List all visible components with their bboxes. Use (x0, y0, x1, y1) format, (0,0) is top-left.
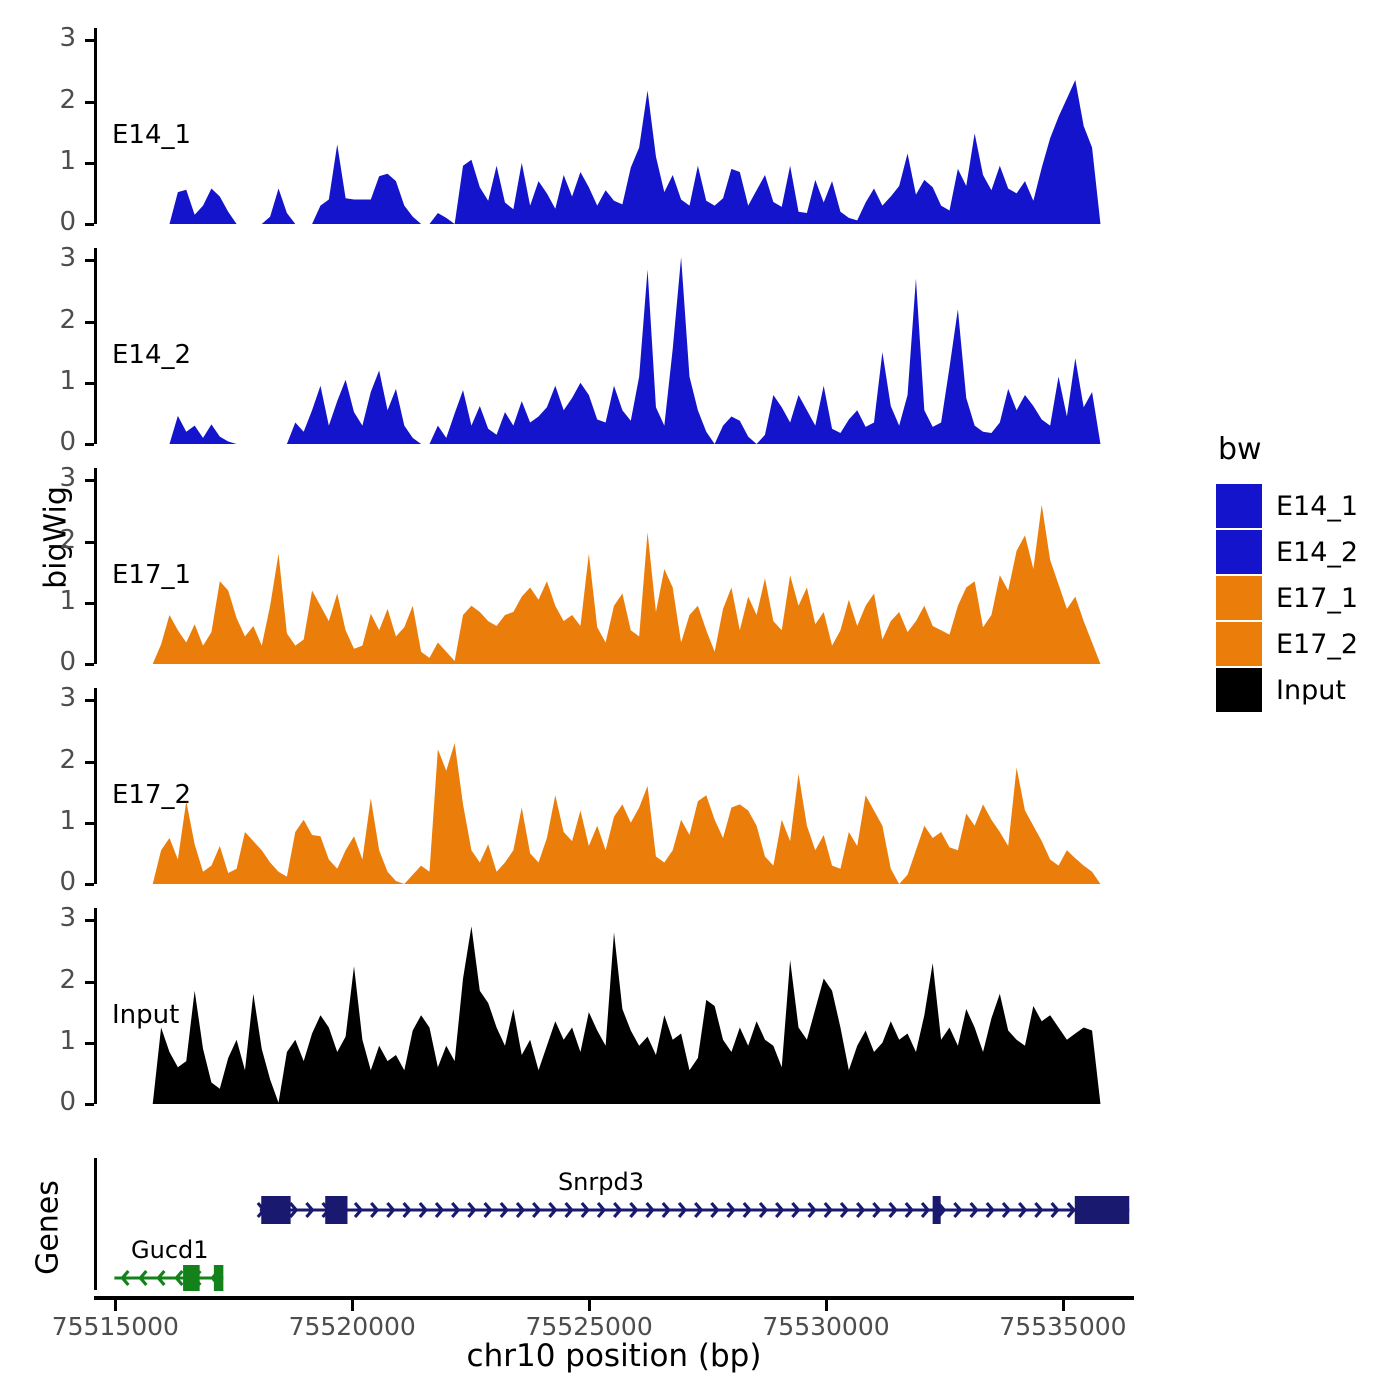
y-tick-label: 1 (24, 146, 76, 176)
x-axis-title: chr10 position (bp) (94, 1338, 1134, 1374)
x-tick (351, 1300, 354, 1311)
y-tick (85, 382, 94, 385)
legend-title: bw (1218, 432, 1358, 467)
legend-item-input[interactable]: Input (1216, 667, 1358, 713)
waveform-e14_1 (94, 28, 1134, 226)
y-tick (85, 699, 94, 702)
y-tick-label: 3 (24, 903, 76, 933)
y-tick-label: 0 (24, 1087, 76, 1117)
legend-item-e14_1[interactable]: E14_1 (1216, 483, 1358, 529)
legend-label: E17_2 (1276, 629, 1358, 660)
legend-label: E17_1 (1276, 583, 1358, 614)
legend-label: Input (1276, 675, 1346, 706)
legend-items: E14_1E14_2E17_1E17_2Input (1216, 483, 1358, 713)
y-tick-label: 3 (24, 463, 76, 493)
y-tick (85, 162, 94, 165)
y-tick-label: 1 (24, 1026, 76, 1056)
y-tick-label: 1 (24, 366, 76, 396)
x-tick-label: 75535000 (963, 1312, 1163, 1341)
legend-label: E14_1 (1276, 491, 1358, 522)
legend-swatch-e14_2 (1216, 530, 1262, 574)
y-tick-label: 3 (24, 243, 76, 273)
waveform-e17_2 (94, 688, 1134, 886)
legend-item-e14_2[interactable]: E14_2 (1216, 529, 1358, 575)
y-tick (85, 541, 94, 544)
legend-swatch-e17_1 (1216, 576, 1262, 620)
legend: bw E14_1E14_2E17_1E17_2Input (1216, 432, 1358, 713)
gene-label-snrpd3: Snrpd3 (558, 1168, 644, 1196)
legend-item-e17_1[interactable]: E17_1 (1216, 575, 1358, 621)
y-tick-label: 2 (24, 745, 76, 775)
gene-exon-snrpd3 (933, 1196, 941, 1224)
waveform-path (94, 926, 1134, 1104)
y-tick-label: 2 (24, 305, 76, 335)
y-tick (85, 822, 94, 825)
y-tick (85, 479, 94, 482)
legend-swatch-e14_1 (1216, 484, 1262, 528)
y-tick (85, 919, 94, 922)
gene-exon-gucd1 (214, 1265, 223, 1291)
y-tick-label: 2 (24, 965, 76, 995)
y-tick-label: 0 (24, 867, 76, 897)
y-tick (85, 883, 94, 886)
x-tick (588, 1300, 591, 1311)
y-tick (85, 259, 94, 262)
y-tick (85, 761, 94, 764)
y-tick (85, 663, 94, 666)
y-tick (85, 1042, 94, 1045)
waveform-path (94, 80, 1134, 224)
y-tick (85, 443, 94, 446)
y-tick (85, 101, 94, 104)
x-tick (1062, 1300, 1065, 1311)
genes-svg: Snrpd3Gucd1 (94, 1158, 1134, 1298)
gene-exon-gucd1 (183, 1265, 200, 1291)
y-tick (85, 223, 94, 226)
legend-label: E14_2 (1276, 537, 1358, 568)
y-tick (85, 321, 94, 324)
x-tick-label: 75520000 (252, 1312, 452, 1341)
legend-item-e17_2[interactable]: E17_2 (1216, 621, 1358, 667)
x-tick-label: 75525000 (489, 1312, 689, 1341)
legend-swatch-input (1216, 668, 1262, 712)
genes-track: Snrpd3Gucd1 (94, 1158, 1134, 1298)
y-tick-label: 1 (24, 806, 76, 836)
y-tick-label: 0 (24, 427, 76, 457)
x-tick (825, 1300, 828, 1311)
y-tick-label: 2 (24, 85, 76, 115)
y-tick (85, 39, 94, 42)
y-tick (85, 981, 94, 984)
y-tick-label: 2 (24, 525, 76, 555)
x-tick-label: 75530000 (726, 1312, 926, 1341)
waveform-input (94, 908, 1134, 1106)
y-tick-label: 3 (24, 23, 76, 53)
gene-label-gucd1: Gucd1 (131, 1236, 209, 1264)
y-tick-label: 0 (24, 647, 76, 677)
y-tick (85, 602, 94, 605)
plot-root: bigWig Genes chr10 position (bp) 0123E14… (0, 0, 1400, 1400)
waveform-e17_1 (94, 468, 1134, 666)
waveform-path (94, 743, 1134, 884)
waveform-path (94, 257, 1134, 444)
y-tick (85, 1103, 94, 1106)
waveform-path (94, 505, 1134, 664)
genes-axis-title: Genes (31, 1158, 66, 1298)
y-tick-label: 3 (24, 683, 76, 713)
waveform-e14_2 (94, 248, 1134, 446)
x-tick (114, 1300, 117, 1311)
legend-swatch-e17_2 (1216, 622, 1262, 666)
x-tick-label: 75515000 (15, 1312, 215, 1341)
x-axis-line (94, 1296, 1134, 1300)
y-tick-label: 0 (24, 207, 76, 237)
y-tick-label: 1 (24, 586, 76, 616)
